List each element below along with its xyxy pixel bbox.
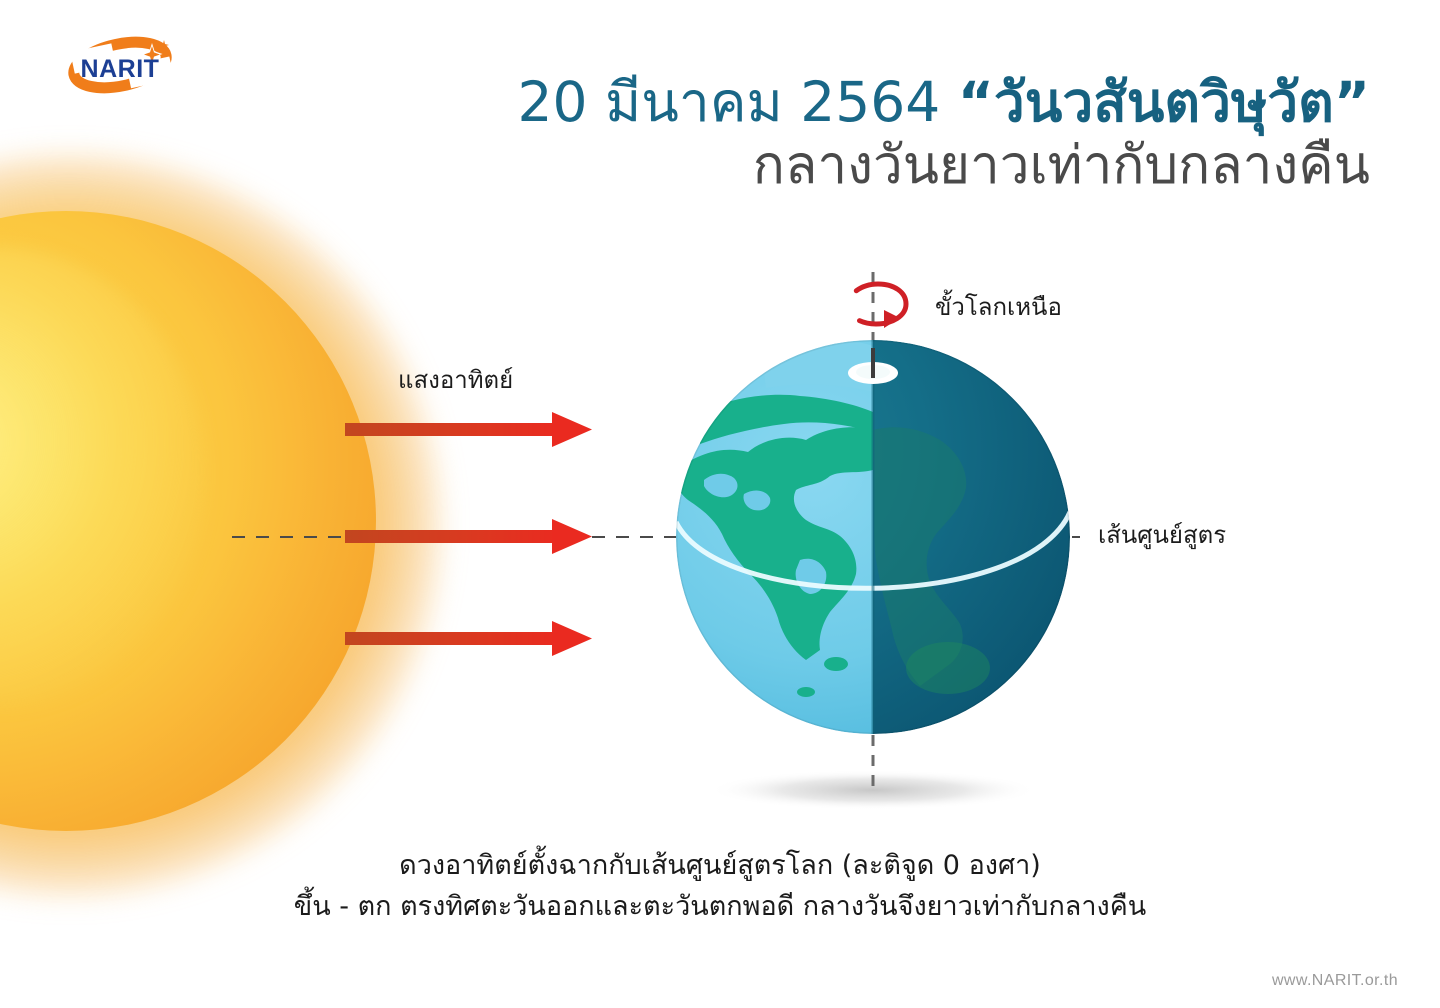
globe-rim (676, 340, 1070, 734)
earth-sea-bay (796, 559, 827, 594)
north-pole-label: ขั้วโลกเหนือ (935, 287, 1062, 326)
earth-landmass-siberia (700, 395, 873, 444)
title-line-2: กลางวันยาวเท่ากับกลางคืน (250, 137, 1370, 194)
website-url[interactable]: www.NARIT.or.th (1272, 972, 1398, 990)
equator-line (676, 512, 1070, 588)
logo-wordmark: NARIT (81, 55, 160, 83)
earth-night-island (906, 642, 990, 694)
north-polar-cap (848, 362, 898, 384)
caption-block: ดวงอาทิตย์ตั้งฉากกับเส้นศูนย์สูตรโลก (ละ… (0, 845, 1440, 927)
earth-day-ocean (676, 340, 1070, 734)
sunlight-label: แสงอาทิตย์ (398, 360, 513, 399)
narit-logo[interactable]: NARIT (60, 34, 180, 96)
title-quoted-term: “วันวสันตวิษุวัต” (958, 70, 1370, 134)
earth-arctic-ocean (760, 338, 873, 392)
earth-globe (676, 338, 1070, 734)
globe-ground-shadow (708, 770, 1038, 810)
earth-night-landmass (873, 427, 966, 686)
caption-line-1: ดวงอาทิตย์ตั้งฉากกับเส้นศูนย์สูตรโลก (ละ… (0, 845, 1440, 886)
page-title: 20 มีนาคม 2564 “วันวสันตวิษุวัต” กลางวัน… (250, 74, 1370, 194)
north-polar-cap-inner (856, 365, 890, 379)
earth-island-a (824, 657, 848, 671)
earth-sea-mediterranean (704, 474, 737, 498)
rotation-arrow-icon (848, 284, 906, 328)
caption-line-2: ขึ้น - ตก ตรงทิศตะวันออกและตะวันตกพอดี ก… (0, 886, 1440, 927)
equator-label: เส้นศูนย์สูตร (1098, 515, 1226, 554)
earth-landmass-eurasia-africa (676, 427, 873, 660)
title-date-text: 20 มีนาคม 2564 (518, 70, 958, 134)
earth-sea-black (743, 491, 770, 511)
sun-graphic (0, 155, 440, 895)
earth-night-side (676, 340, 1070, 734)
title-line-1: 20 มีนาคม 2564 “วันวสันตวิษุวัต” (250, 74, 1370, 131)
earth-island-b (797, 687, 815, 697)
infographic-canvas: NARIT 20 มีนาคม 2564 “วันวสันตวิษุวัต” ก… (0, 0, 1440, 1008)
